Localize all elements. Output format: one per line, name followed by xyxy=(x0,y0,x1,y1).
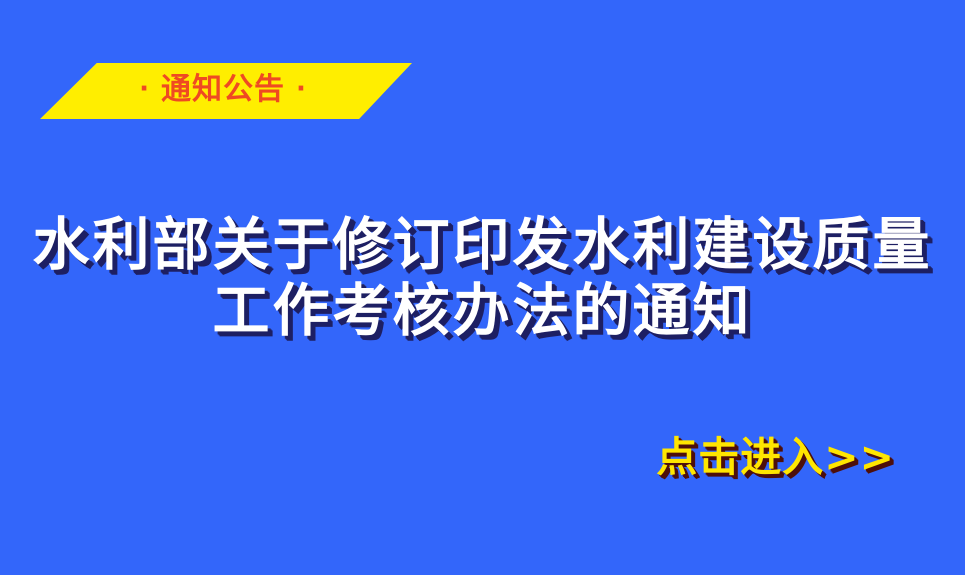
enter-link[interactable]: 点击进入>> xyxy=(656,435,895,480)
notice-banner: · 通知公告 · xyxy=(34,63,412,119)
page-title-line-2: 工作考核办法的通知 xyxy=(0,278,965,344)
banner-left-dot-icon: · xyxy=(139,76,150,102)
banner-right-dot-icon: · xyxy=(296,76,307,102)
announcement-poster: · 通知公告 · 水利部关于修订印发水利建设质量 工作考核办法的通知 点击进入>… xyxy=(0,0,965,575)
page-title-line-1: 水利部关于修订印发水利建设质量 xyxy=(0,212,965,278)
banner-title: 通知公告 xyxy=(161,75,285,105)
page-title: 水利部关于修订印发水利建设质量 工作考核办法的通知 xyxy=(0,212,965,344)
banner-label-group: · 通知公告 · xyxy=(34,63,412,119)
